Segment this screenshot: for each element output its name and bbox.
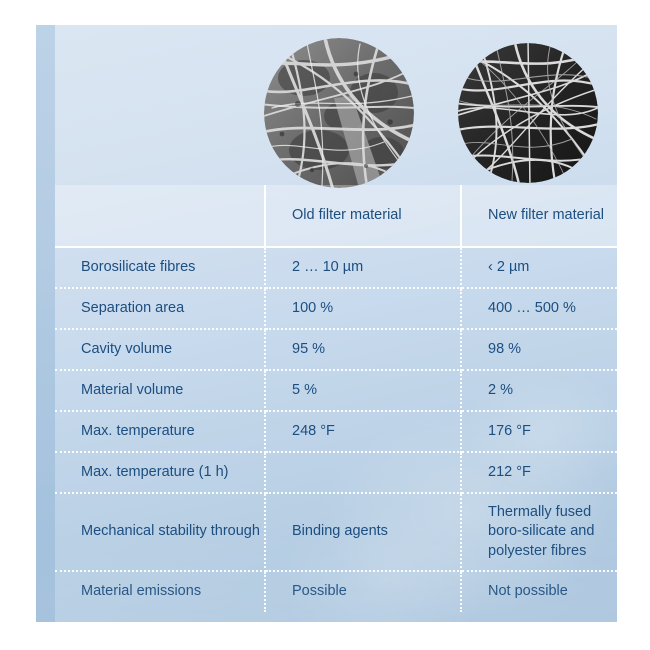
- table-row: Mechanical stability through Binding age…: [55, 493, 617, 571]
- cell-old: 5 %: [265, 370, 461, 411]
- screenshot-canvas: Old filter material New filter material …: [0, 0, 650, 650]
- row-label-text: Mechanical stability through: [81, 522, 264, 541]
- cell-new: Not possible: [461, 571, 617, 612]
- table-row: Material emissions Possible Not possible: [55, 571, 617, 612]
- row-label: Separation area: [55, 288, 265, 329]
- cell-old: Binding agents: [265, 493, 461, 571]
- filter-comparison-table: Old filter material New filter material …: [55, 185, 617, 612]
- row-label: Material volume: [55, 370, 265, 411]
- row-label: Max. temperature: [55, 411, 265, 452]
- cell-new-text: Thermally fused boro-silicate and polyes…: [488, 503, 617, 561]
- row-label: Mechanical stability through: [55, 493, 265, 571]
- column-header-old-filter-material: Old filter material: [265, 185, 461, 247]
- cell-new: 2 %: [461, 370, 617, 411]
- table-body: Borosilicate fibres 2 … 10 µm ‹ 2 µm Sep…: [55, 247, 617, 612]
- table-row: Cavity volume 95 % 98 %: [55, 329, 617, 370]
- cell-new: 98 %: [461, 329, 617, 370]
- row-label: Max. temperature (1 h): [55, 452, 265, 493]
- cell-new: Thermally fused boro-silicate and polyes…: [461, 493, 617, 571]
- cell-new: 212 °F: [461, 452, 617, 493]
- table-row: Max. temperature 248 °F 176 °F: [55, 411, 617, 452]
- row-label: Borosilicate fibres: [55, 247, 265, 288]
- table-row: Borosilicate fibres 2 … 10 µm ‹ 2 µm: [55, 247, 617, 288]
- cell-old: 95 %: [265, 329, 461, 370]
- cell-old: 248 °F: [265, 411, 461, 452]
- column-header-new-filter-material: New filter material: [461, 185, 617, 247]
- cell-old: [265, 452, 461, 493]
- cell-old: 2 … 10 µm: [265, 247, 461, 288]
- micrograph-row: [36, 25, 617, 185]
- table-header: Old filter material New filter material: [55, 185, 617, 247]
- row-label: Cavity volume: [55, 329, 265, 370]
- table-header-row: Old filter material New filter material: [55, 185, 617, 247]
- micrograph-old-filter-material: [264, 38, 414, 188]
- row-label: Material emissions: [55, 571, 265, 612]
- cell-new: 176 °F: [461, 411, 617, 452]
- table-row: Separation area 100 % 400 … 500 %: [55, 288, 617, 329]
- column-header-property: [55, 185, 265, 247]
- cell-old: Possible: [265, 571, 461, 612]
- cell-new: ‹ 2 µm: [461, 247, 617, 288]
- micrograph-new-filter-material: [458, 43, 598, 183]
- comparison-panel: Old filter material New filter material …: [36, 25, 617, 622]
- table-row: Material volume 5 % 2 %: [55, 370, 617, 411]
- cell-new: 400 … 500 %: [461, 288, 617, 329]
- cell-old: 100 %: [265, 288, 461, 329]
- table-row: Max. temperature (1 h) 212 °F: [55, 452, 617, 493]
